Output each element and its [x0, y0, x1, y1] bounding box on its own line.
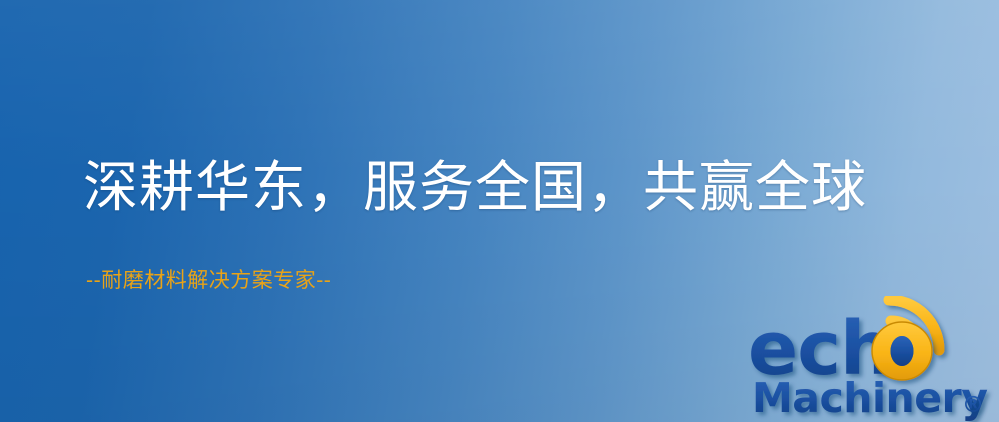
echo-machinery-logo[interactable]: ech Machinery ® — [746, 296, 999, 422]
logo-text-machinery: Machinery — [752, 374, 987, 422]
logo-letter-o-gold — [872, 322, 932, 380]
banner-subtitle: --耐磨材料解决方案专家-- — [86, 266, 331, 294]
hero-banner: 深耕华东，服务全国，共赢全球 --耐磨材料解决方案专家-- — [0, 0, 999, 422]
banner-headline: 深耕华东，服务全国，共赢全球 — [83, 155, 867, 219]
logo-registered-mark: ® — [962, 393, 984, 418]
